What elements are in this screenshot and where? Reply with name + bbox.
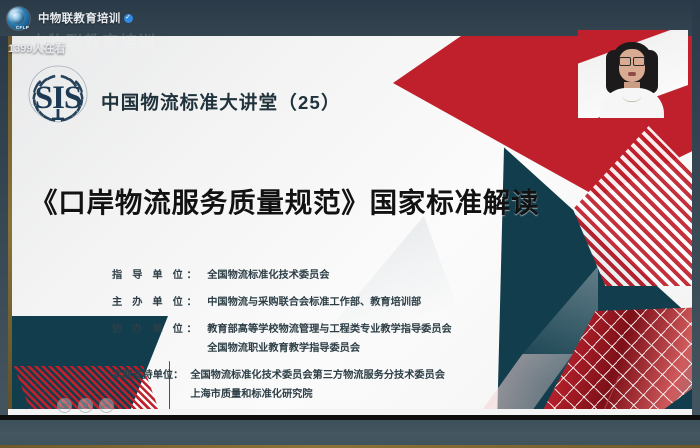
credit-values: 全国物流标准化技术委员会: [207, 266, 329, 285]
credit-value: 全国物流标准化技术委员会第三方物流服务分技术委员会: [190, 366, 445, 385]
credit-value: 全国物流标准化技术委员会: [207, 266, 329, 285]
lecture-series-title: 中国物流标准大讲堂（25）: [101, 89, 341, 115]
credit-values: 中国物流与采购联合会标准工作部、教育培训部: [207, 293, 421, 312]
presenter-mouth: [628, 72, 636, 76]
credit-row: 主 办 单 位： 中国物流与采购联合会标准工作部、教育培训部: [112, 293, 452, 312]
credit-row: 协 办 单 位： 教育部高等学校物流管理与工程类专业教学指导委员会 全国物流职业…: [112, 320, 452, 358]
credit-label: 指 导 单 位：: [112, 266, 200, 285]
viewer-count-label: 1399人在看: [8, 40, 65, 56]
slide-main-title: 《口岸物流服务质量规范》国家标准解读: [30, 180, 539, 220]
credit-value: 全国物流职业教育教学指导委员会: [207, 339, 452, 358]
player-right-edge: [692, 0, 700, 415]
credit-label: 本期支持单位：: [112, 366, 183, 385]
credit-value: 中国物流与采购联合会标准工作部、教育培训部: [207, 293, 421, 312]
credit-row: 本期支持单位： 全国物流标准化技术委员会第三方物流服务分技术委员会 上海市质量和…: [112, 366, 452, 404]
credits-block: 指 导 单 位： 全国物流标准化技术委员会 主 办 单 位： 中国物流与采购联合…: [112, 266, 452, 404]
svg-text:SIS: SIS: [35, 80, 82, 116]
zoom-search-icon[interactable]: [78, 398, 93, 413]
player-control-area[interactable]: [0, 415, 700, 448]
presenter-video-overlay[interactable]: [578, 30, 688, 118]
cflp-logo-text: CFLP: [11, 25, 34, 30]
credit-label: 主 办 单 位：: [112, 293, 200, 312]
credit-value: 上海市质量和标准化研究院: [190, 385, 445, 404]
channel-name-label: 中物联教育培训: [38, 10, 121, 26]
credit-row: 指 导 单 位： 全国物流标准化技术委员会: [112, 266, 452, 285]
player-divider: [0, 415, 700, 420]
cflp-logo-icon: CFLP: [7, 7, 30, 30]
credit-values: 教育部高等学校物流管理与工程类专业教学指导委员会 全国物流职业教育教学指导委员会: [207, 320, 452, 358]
credit-value: 教育部高等学校物流管理与工程类专业教学指导委员会: [207, 320, 452, 339]
more-options-icon[interactable]: [99, 398, 114, 413]
credit-values: 全国物流标准化技术委员会第三方物流服务分技术委员会 上海市质量和标准化研究院: [190, 366, 445, 404]
verified-check-icon: [124, 14, 133, 23]
glasses-icon: [619, 57, 645, 64]
slide-tool-buttons: [57, 398, 114, 413]
slide-left-gold-bar: [8, 36, 12, 415]
screenshot-icon[interactable]: [57, 398, 72, 413]
sis-crest-icon: SIS: [22, 62, 94, 126]
credit-label: 协 办 单 位：: [112, 320, 200, 339]
player-left-edge: [0, 36, 8, 415]
presenter-video-frame: [578, 30, 688, 118]
live-stream-player: CFLP 中物联教育培训: [0, 0, 700, 448]
